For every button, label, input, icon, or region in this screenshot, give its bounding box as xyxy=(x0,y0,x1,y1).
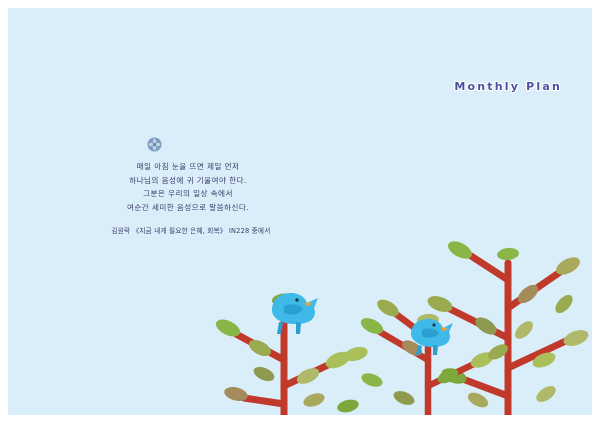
poem-credit: 김원락 《지금 내게 필요한 은혜, 회복》 IN228 중에서 xyxy=(66,225,316,235)
bird-right xyxy=(411,319,453,355)
poem-line-3: 그분은 우리의 일상 속에서 xyxy=(68,187,308,201)
flower-icon xyxy=(147,137,162,152)
bird-left xyxy=(272,293,318,334)
page-root: Monthly Plan 매일 아침 눈을 뜨면 제일 먼저 하나님의 음성에 … xyxy=(0,0,600,423)
poem-line-4: 여순간 세미한 음성으로 말씀하신다. xyxy=(68,201,308,215)
poem-line-1: 매일 아침 눈을 뜨면 제일 먼저 xyxy=(68,160,308,174)
planner-card: Monthly Plan 매일 아침 눈을 뜨면 제일 먼저 하나님의 음성에 … xyxy=(8,8,592,415)
poem-text: 매일 아침 눈을 뜨면 제일 먼저 하나님의 음성에 귀 기울여야 한다. 그분… xyxy=(68,160,308,214)
page-title: Monthly Plan xyxy=(454,80,562,93)
poem-line-2: 하나님의 음성에 귀 기울여야 한다. xyxy=(68,174,308,188)
